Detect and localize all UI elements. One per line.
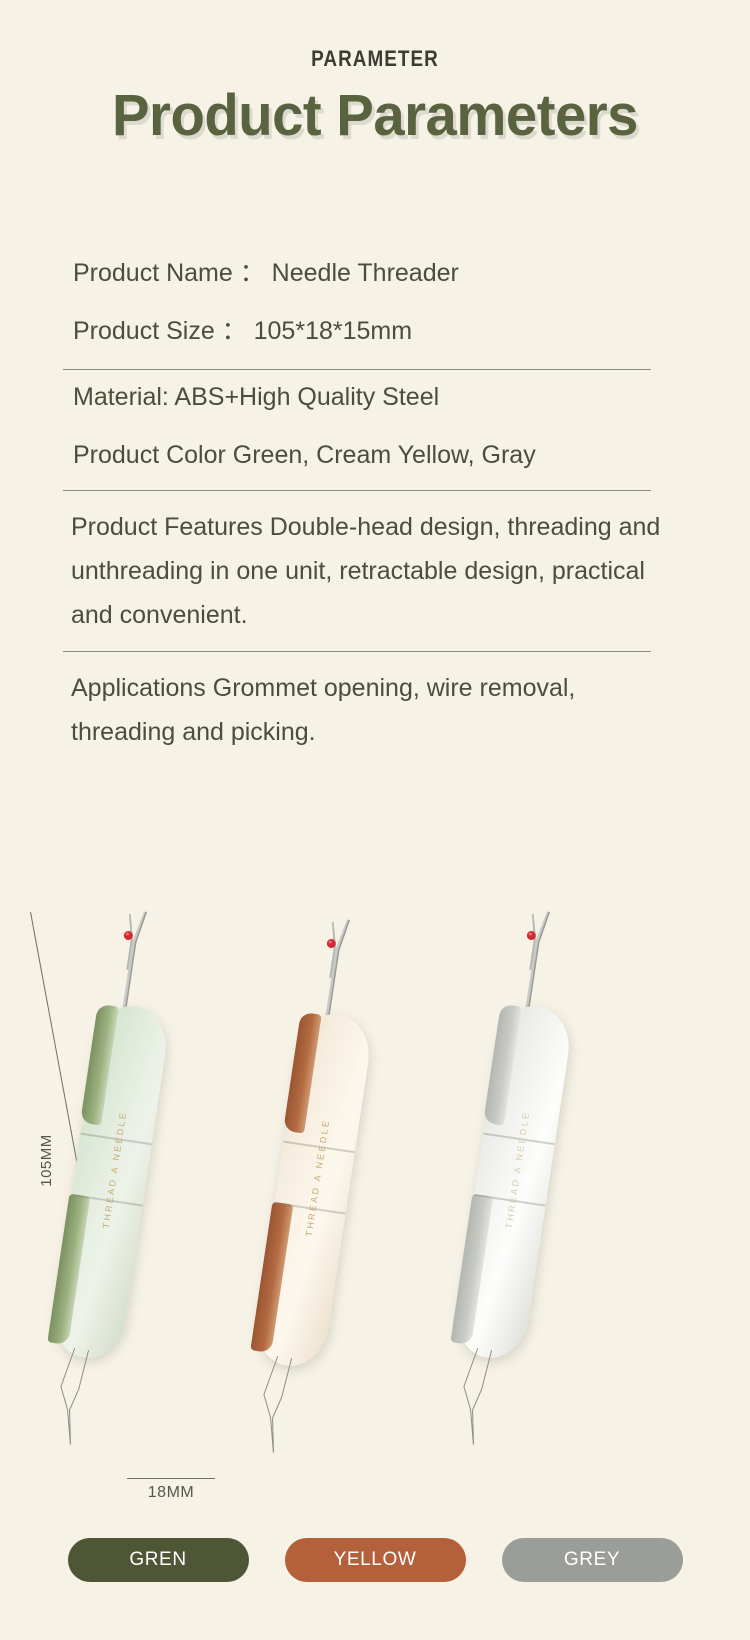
spec-material: Material: ABS+High Quality Steel (73, 370, 651, 428)
spec-group-basic: Product Name ： Needle Threader Product S… (63, 248, 651, 365)
color-swatch-row: GREN YELLOW GREY (0, 1538, 750, 1582)
product-image-cream-yellow: THREAD A NEEDLE (220, 902, 416, 1434)
swatch-button-yellow[interactable]: YELLOW (285, 1538, 466, 1582)
divider-3 (63, 651, 651, 652)
spec-applications: Applications Grommet opening, wire remov… (71, 666, 686, 754)
steel-blade-icon (316, 915, 353, 1021)
spec-product-name: Product Name ： Needle Threader (73, 248, 651, 306)
steel-blade-icon (113, 907, 150, 1013)
swatch-label-yellow: YELLOW (334, 1549, 417, 1571)
spec-product-size: Product Size ： 105*18*15mm (73, 306, 651, 364)
spec-list: Product Name ： Needle Threader Product S… (63, 248, 651, 768)
page-header: PARAMETER Product Parameters (0, 0, 750, 149)
product-image-grey: THREAD A NEEDLE (420, 894, 616, 1426)
wire-threader-loop-green (41, 1345, 115, 1449)
page-title: Product Parameters (11, 82, 739, 149)
swatch-button-grey[interactable]: GREY (502, 1538, 683, 1582)
wire-threader-loop-cream (244, 1353, 318, 1457)
width-measure-label: 18MM (127, 1484, 215, 1502)
spec-features: Product Features Double-head design, thr… (71, 505, 671, 637)
wire-threader-loop-grey (444, 1345, 518, 1449)
spec-group-material: Material: ABS+High Quality Steel Product… (63, 370, 651, 487)
swatch-button-green[interactable]: GREN (68, 1538, 249, 1582)
width-measure-line (127, 1478, 215, 1479)
product-gallery: 105MM 18MM THREAD A NEEDLE (0, 860, 750, 1480)
spec-product-color: Product Color Green, Cream Yellow, Gray (73, 428, 651, 486)
divider-2 (63, 490, 651, 491)
eyebrow-label: PARAMETER (53, 46, 698, 72)
steel-blade-icon (516, 907, 553, 1013)
swatch-label-grey: GREY (564, 1549, 620, 1571)
swatch-label-green: GREN (129, 1549, 186, 1571)
